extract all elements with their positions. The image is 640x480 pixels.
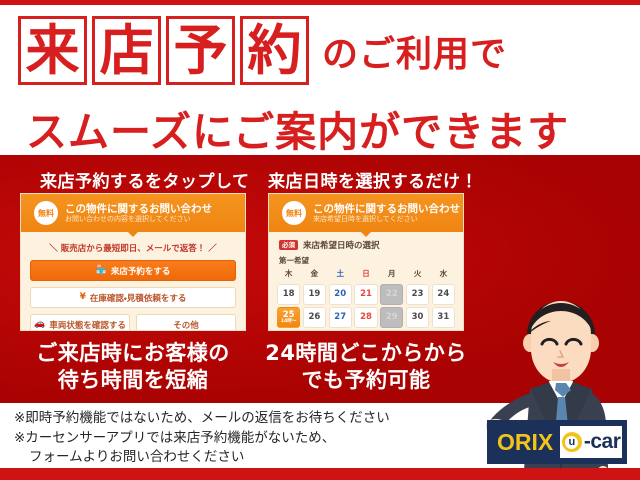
calendar-day-cell[interactable]: 21 xyxy=(354,284,377,305)
yen-icon: ¥ xyxy=(80,293,86,302)
orix-wordmark: ORIX xyxy=(488,429,560,456)
calendar-day-number: 27 xyxy=(334,313,346,322)
calendar-card-title: この物件に関するお問い合わせ xyxy=(313,203,460,215)
u-letter: u xyxy=(565,436,578,449)
calendar-weekday-header: 土 xyxy=(329,268,352,281)
calendar-card-header: 無料 この物件に関するお問い合わせ 来店希望日時を選択してください xyxy=(269,194,463,232)
red-feature-section: 来店予約するをタップして 来店日時を選択するだけ！ 無料 この物件に関するお問い… xyxy=(0,155,640,403)
headline-line-1: 来 店 予 約 のご利用で xyxy=(18,16,507,85)
calendar-day-number: 29 xyxy=(386,313,398,322)
headline-kanji: 予 xyxy=(174,24,228,78)
right-panel-title: 来店日時を選択するだけ！ xyxy=(268,167,478,192)
calendar-day-time: 14時～ xyxy=(281,320,296,325)
right-caption: 24時間どこからから でも予約可能 xyxy=(258,340,474,394)
calendar-section-label: 来店希望日時の選択 xyxy=(303,239,380,251)
inquiry-form-mockup: 無料 この物件に関するお問い合わせ お問い合わせの内容を選択してください ＼ 販… xyxy=(20,193,246,331)
car-icon: 🚗 xyxy=(34,320,45,329)
calendar-weekday-header: 木 xyxy=(277,268,300,281)
calendar-day-cell[interactable]: 23 xyxy=(406,284,429,305)
headline-kanji-box: 来 xyxy=(18,16,87,85)
card-notch-icon xyxy=(360,231,372,237)
headline-block: 来 店 予 約 のご利用で スムーズにご案内ができます xyxy=(0,8,640,153)
calendar-day-cell[interactable]: 20 xyxy=(329,284,352,305)
free-badge: 無料 xyxy=(282,201,306,225)
u-ring-icon: u xyxy=(562,432,582,452)
calendar-mockup: 無料 この物件に関するお問い合わせ 来店希望日時を選択してください 必須 来店希… xyxy=(268,193,464,331)
headline-kanji: 約 xyxy=(248,24,302,78)
left-caption: ご来店時にお客様の 待ち時間を短縮 xyxy=(14,340,252,394)
calendar-day-cell[interactable]: 31 xyxy=(432,307,455,328)
headline-tail-text: のご利用で xyxy=(322,25,507,77)
reserve-visit-button-label: 来店予約をする xyxy=(111,265,171,277)
calendar-day-number: 19 xyxy=(309,290,321,299)
car-wordmark: -car xyxy=(584,430,621,454)
footer-note-3: フォームよりお問い合わせください xyxy=(14,448,474,468)
calendar-day-number: 25 xyxy=(283,311,295,320)
inquiry-card-title: この物件に関するお問い合わせ xyxy=(65,203,212,215)
calendar-weekday-header: 火 xyxy=(406,268,429,281)
calendar-day-cell[interactable]: 28 xyxy=(354,307,377,328)
calendar-day-cell[interactable]: 19 xyxy=(303,284,326,305)
calendar-weekday-header: 月 xyxy=(380,268,403,281)
left-panel-title: 来店予約するをタップして xyxy=(40,167,250,192)
reserve-visit-button[interactable]: 🏪 来店予約をする xyxy=(30,260,236,281)
headline-line-2: スムーズにご案内ができます xyxy=(26,98,569,158)
calendar-day-number: 22 xyxy=(386,290,398,299)
calendar-day-number: 20 xyxy=(334,290,346,299)
bottom-red-rule xyxy=(0,468,640,480)
calendar-weekday-header: 金 xyxy=(303,268,326,281)
calendar-day-number: 23 xyxy=(412,290,424,299)
ucar-wordmark: u -car xyxy=(560,426,622,458)
calendar-day-cell[interactable]: 27 xyxy=(329,307,352,328)
headline-kanji: 店 xyxy=(100,24,154,78)
calendar-weekday-header: 水 xyxy=(432,268,455,281)
vehicle-condition-button-label: 車両状態を確認する xyxy=(49,319,126,331)
footer-note-2: ※カーセンサーアプリでは来店予約機能がないため、 xyxy=(14,429,474,449)
inquiry-button-row-3: 🚗 車両状態を確認する その他 xyxy=(21,314,245,331)
calendar-day-number: 30 xyxy=(412,313,424,322)
headline-kanji-box: 約 xyxy=(240,16,309,85)
inquiry-button-row-2: ¥ 在庫確認・見積依頼をする xyxy=(21,287,245,314)
calendar-day-number: 28 xyxy=(360,313,372,322)
headline-kanji-box: 予 xyxy=(166,16,235,85)
calendar-day-cell[interactable]: 24 xyxy=(432,284,455,305)
calendar-card-header-text: この物件に関するお問い合わせ 来店希望日時を選択してください xyxy=(313,203,460,223)
calendar-day-cell[interactable]: 26 xyxy=(303,307,326,328)
card-notch-icon xyxy=(127,231,139,237)
vehicle-condition-button[interactable]: 🚗 車両状態を確認する xyxy=(30,314,130,331)
top-red-rule xyxy=(0,0,640,5)
promo-banner: 来 店 予 約 のご利用で スムーズにご案内ができます 来店予約するをタップして… xyxy=(0,0,640,480)
calendar-day-cell[interactable]: 2514時～ xyxy=(277,307,300,328)
stock-estimate-button[interactable]: ¥ 在庫確認・見積依頼をする xyxy=(30,287,236,308)
preference-label: 第一希望 xyxy=(269,251,463,268)
headline-kanji: 来 xyxy=(26,24,80,78)
inquiry-button-row-1: 🏪 来店予約をする xyxy=(21,260,245,287)
calendar-weekday-header: 日 xyxy=(354,268,377,281)
other-button[interactable]: その他 xyxy=(136,314,236,331)
calendar-day-cell: 22 xyxy=(380,284,403,305)
orix-ucar-logo: ORIX u -car xyxy=(487,420,627,464)
calendar-day-number: 21 xyxy=(360,290,372,299)
stock-estimate-button-label: 在庫確認・見積依頼をする xyxy=(90,292,186,304)
inquiry-card-header: 無料 この物件に関するお問い合わせ お問い合わせの内容を選択してください xyxy=(21,194,245,232)
calendar-grid[interactable]: 木金土日月火水181920212223242514時～262728293031 xyxy=(269,268,463,328)
calendar-day-cell[interactable]: 30 xyxy=(406,307,429,328)
free-badge: 無料 xyxy=(34,201,58,225)
calendar-card-subtitle: 来店希望日時を選択してください xyxy=(313,215,460,223)
required-badge: 必須 xyxy=(279,240,298,250)
inquiry-lead-text: ＼ 販売店から最短即日、メールで返答！ ／ xyxy=(21,242,245,254)
footer-note-1: ※即時予約機能ではないため、メールの返信をお待ちください xyxy=(14,409,474,429)
inquiry-card-subtitle: お問い合わせの内容を選択してください xyxy=(65,215,212,223)
calendar-day-number: 26 xyxy=(309,313,321,322)
calendar-day-cell: 29 xyxy=(380,307,403,328)
other-button-label: その他 xyxy=(173,319,199,331)
calendar-day-cell[interactable]: 18 xyxy=(277,284,300,305)
footer-notes: ※即時予約機能ではないため、メールの返信をお待ちください ※カーセンサーアプリで… xyxy=(14,409,474,468)
calendar-day-number: 31 xyxy=(437,313,449,322)
inquiry-card-header-text: この物件に関するお問い合わせ お問い合わせの内容を選択してください xyxy=(65,203,212,223)
calendar-day-number: 24 xyxy=(437,290,449,299)
store-icon: 🏪 xyxy=(96,266,107,275)
calendar-day-number: 18 xyxy=(283,290,295,299)
headline-kanji-box: 店 xyxy=(92,16,161,85)
